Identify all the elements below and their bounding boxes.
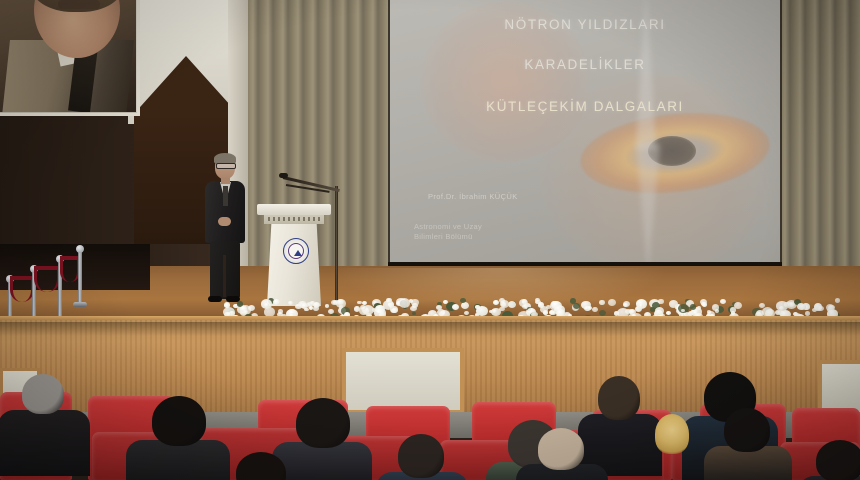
flower: [779, 306, 783, 310]
presenter-shoe-left: [208, 296, 222, 302]
wall-panel-center: [342, 348, 464, 414]
flower: [666, 311, 671, 315]
audience-member-shoulders: [0, 410, 90, 476]
microphone-stand-pole: [335, 186, 338, 304]
slide-department-line-1: Astronomi ve Uzay: [414, 222, 482, 232]
flower: [360, 305, 366, 310]
velvet-rope: [34, 266, 60, 292]
flower: [655, 307, 664, 315]
lectern: [263, 204, 325, 304]
flower: [411, 299, 419, 305]
rope-stanchion: [78, 252, 82, 304]
lectern-top: [257, 204, 331, 215]
flower: [452, 304, 459, 310]
presenter-tie: [223, 186, 228, 206]
audience-member-head: [724, 408, 770, 452]
ataturk-portrait: [0, 0, 138, 114]
university-emblem-inner: [288, 243, 304, 259]
flower: [702, 303, 707, 307]
presenter: [203, 155, 247, 305]
flower: [608, 299, 616, 306]
portrait-moustache: [58, 0, 100, 9]
flower: [730, 307, 736, 312]
lectern-body: [267, 224, 321, 306]
flower: [412, 312, 416, 315]
flower: [592, 307, 598, 312]
microphone-head: [279, 173, 288, 178]
slide-heading-1: NÖTRON YILDIZLARI: [390, 17, 780, 32]
lectern-trim: [268, 217, 320, 221]
stage-curtain-right: [780, 0, 860, 290]
flower: [325, 304, 330, 308]
flower: [835, 298, 840, 302]
velvet-rope: [60, 256, 80, 282]
flower: [386, 298, 391, 302]
flower: [658, 299, 663, 303]
flower: [669, 300, 678, 307]
audience-member-shoulders: [126, 440, 230, 480]
flower: [500, 300, 509, 308]
flower: [690, 304, 696, 309]
audience-member-head: [598, 376, 640, 420]
flower: [476, 306, 487, 316]
slide-heading-3: KÜTLEÇEKİM DALGALARI: [390, 99, 780, 114]
stage-front-shadow: [0, 322, 860, 336]
flower: [410, 306, 417, 312]
flower: [817, 306, 824, 312]
audience-member-head: [816, 440, 860, 480]
university-emblem-mark: [294, 250, 302, 256]
audience-member-head: [398, 434, 444, 478]
flower: [288, 301, 293, 305]
flower: [399, 298, 410, 307]
slide-department: Astronomi ve Uzay Bilimleri Bölümü: [414, 222, 482, 242]
flower: [461, 302, 469, 309]
presenter-hands: [218, 217, 231, 226]
flower: [273, 299, 280, 305]
audience-member-head: [296, 398, 350, 448]
audience-member-head: [152, 396, 206, 446]
flower: [599, 300, 604, 305]
auditorium-photo: NÖTRON YILDIZLARI KARADELİKLER KÜTLEÇEKİ…: [0, 0, 860, 480]
presenter-glasses: [216, 163, 236, 169]
flower: [573, 303, 580, 309]
flower: [681, 309, 685, 312]
flower: [304, 308, 308, 312]
slide-heading-2: KARADELİKLER: [390, 57, 780, 72]
wall-gable-peak: [132, 56, 240, 116]
velvet-rope: [10, 276, 34, 302]
flower: [508, 301, 516, 308]
projection-screen: NÖTRON YILDIZLARI KARADELİKLER KÜTLEÇEKİ…: [390, 0, 780, 266]
flower: [720, 299, 726, 304]
flower: [313, 302, 320, 308]
flower: [805, 311, 810, 315]
slide-author: Prof.Dr. İbrahim KÜÇÜK: [428, 192, 518, 201]
flower: [464, 311, 469, 316]
slide-department-line-2: Bilimleri Bölümü: [414, 232, 482, 242]
flower: [436, 305, 442, 310]
flower: [354, 306, 360, 311]
flower: [248, 305, 255, 311]
presenter-leg-gap: [223, 255, 226, 297]
audience-member-head: [538, 428, 584, 470]
flower: [328, 309, 334, 314]
audience-member-head: [22, 374, 64, 414]
university-emblem: [283, 238, 309, 264]
bouquet: [655, 414, 689, 454]
